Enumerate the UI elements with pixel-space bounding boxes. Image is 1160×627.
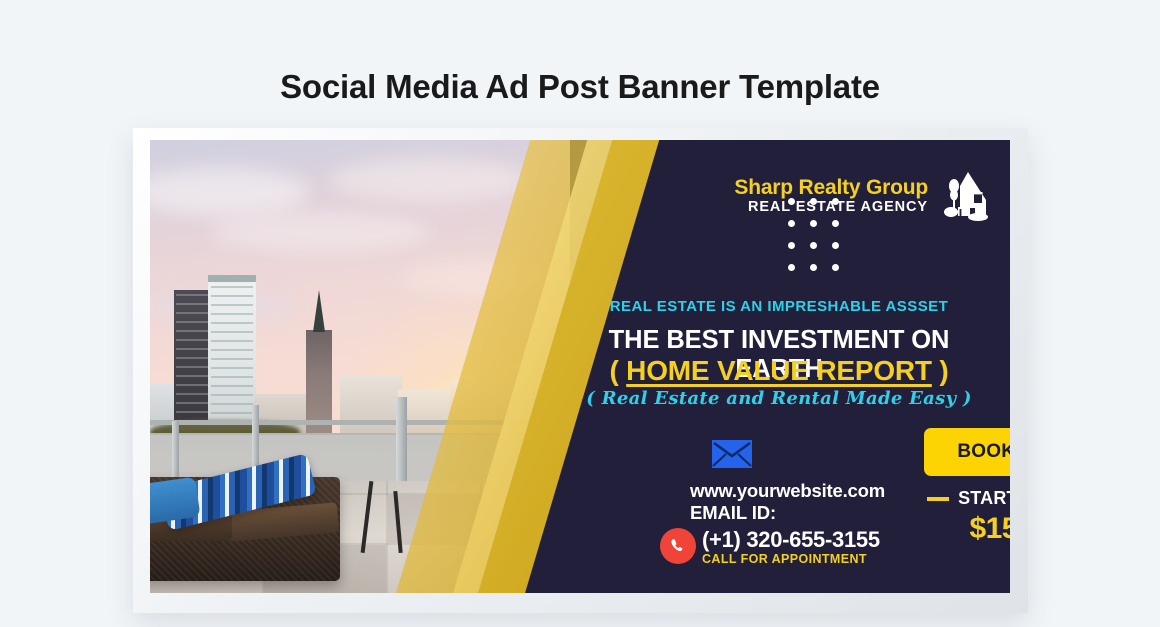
dash-left — [927, 497, 949, 501]
call-for-appointment-note: CALL FOR APPOINTMENT — [702, 552, 867, 566]
dot — [832, 242, 839, 249]
dot — [810, 198, 817, 205]
house-with-tree-icon — [938, 170, 988, 222]
starting-at-row: STARTING AT — [924, 488, 1010, 509]
subheadline-close-paren: ) — [939, 355, 948, 386]
dot — [832, 264, 839, 271]
building-tower-dark — [174, 290, 210, 438]
subheadline-open-paren: ( — [609, 355, 618, 386]
dot — [810, 220, 817, 227]
phone-icon — [660, 528, 696, 564]
dot — [788, 242, 795, 249]
script-tagline: ( Real Estate and Rental Made Easy ) — [570, 388, 988, 409]
banner-content: Sharp Realty Group REAL ESTATE AGENCY — [570, 140, 1010, 593]
cloud — [330, 158, 530, 202]
page-title: Social Media Ad Post Banner Template — [0, 68, 1160, 106]
brand-name: Sharp Realty Group — [734, 176, 928, 200]
book-now-button[interactable]: BOOK NOW.! — [924, 428, 1010, 476]
cloud — [210, 212, 430, 252]
dot — [810, 242, 817, 249]
brand-logo[interactable]: Sharp Realty Group REAL ESTATE AGENCY — [734, 170, 988, 222]
building — [340, 376, 402, 438]
starting-at-label: STARTING AT — [958, 488, 1010, 509]
building-roof — [208, 275, 256, 282]
email-id-label: EMAIL ID: — [690, 502, 776, 524]
subheadline-inner: HOME VALUE REPORT — [626, 355, 932, 386]
dot — [832, 220, 839, 227]
building-tower-light — [208, 280, 256, 438]
price-value: $15000 — [924, 512, 1010, 546]
envelope-icon — [712, 440, 752, 468]
dot — [810, 264, 817, 271]
dot-grid-decoration — [788, 198, 854, 286]
phone-number[interactable]: (+1) 320-655-3155 — [702, 527, 880, 553]
dot — [832, 198, 839, 205]
subheadline: ( HOME VALUE REPORT ) — [570, 355, 988, 387]
railing-post — [396, 397, 407, 493]
tagline: REAL ESTATE IS AN IMPRESHABLE ASSSET — [570, 298, 988, 315]
dot — [788, 220, 795, 227]
ad-banner: Sharp Realty Group REAL ESTATE AGENCY — [150, 140, 1010, 593]
dot — [788, 198, 795, 205]
website-url[interactable]: www.yourwebsite.com — [690, 480, 885, 502]
screen: Social Media Ad Post Banner Template — [0, 0, 1160, 627]
dot — [788, 264, 795, 271]
tile-seam — [386, 481, 388, 593]
